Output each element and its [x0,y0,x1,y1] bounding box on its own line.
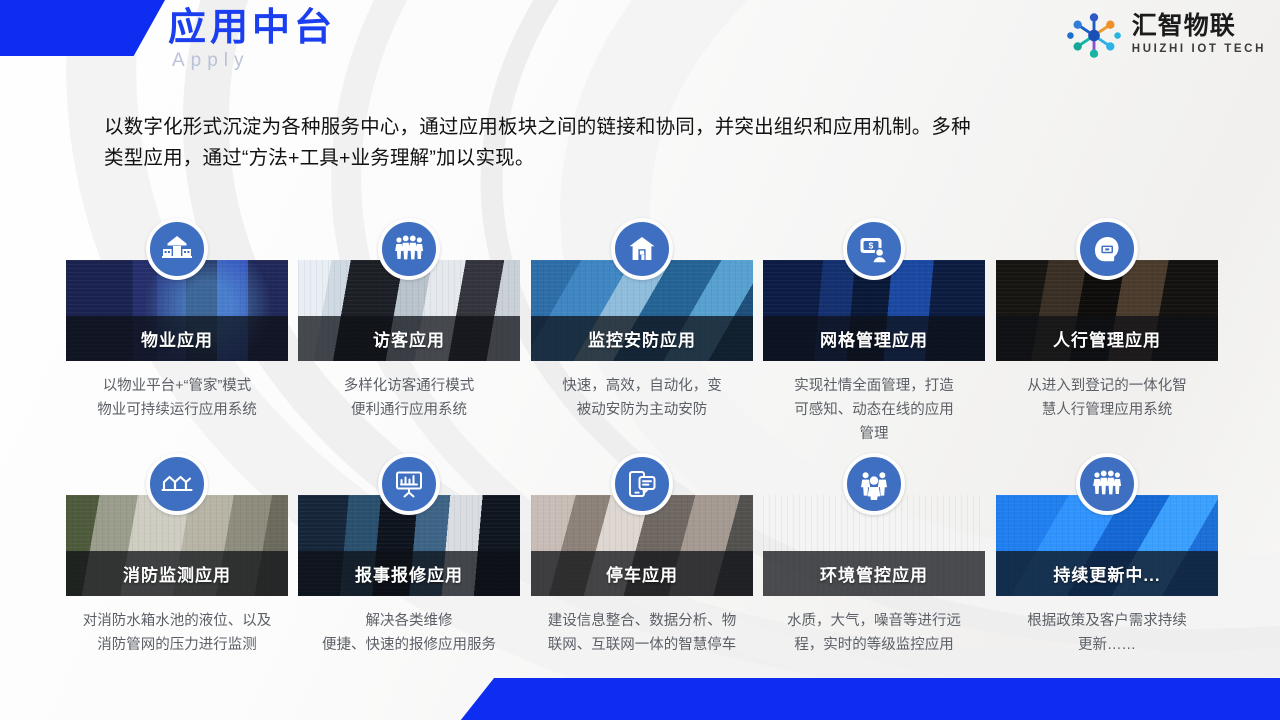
face-recognition-icon[interactable] [1076,218,1138,280]
intro-paragraph: 以数字化形式沉淀为各种服务中心，通过应用板块之间的链接和协同，并突出组织和应用机… [104,112,1174,174]
card-description: 建设信息整合、数据分析、物联网、互联网一体的智慧停车 [531,609,753,657]
logo-name-en: HUIZHI IOT TECH [1132,42,1266,57]
card-description-line: 可感知、动态在线的应用 [765,398,983,422]
people-group-icon[interactable] [378,218,440,280]
buildings-outline-icon[interactable] [146,453,208,515]
application-card[interactable]: 报事报修应用解决各类维修便捷、快速的报修应用服务 [298,453,520,657]
brand-logo: 汇智物联 HUIZHI IOT TECH [1065,12,1266,58]
card-title: 访客应用 [373,326,445,351]
card-description-line: 便利通行应用系统 [300,398,518,422]
family-group-icon[interactable] [843,453,905,515]
card-description: 快速，高效，自动化，变被动安防为主动安防 [531,374,753,422]
card-description-line: 对消防水箱水池的液位、以及 [68,609,286,633]
card-description-line: 多样化访客通行模式 [300,374,518,398]
card-title-bar: 消防监测应用 [66,551,288,596]
card-title: 报事报修应用 [355,561,463,586]
application-card[interactable]: $网格管理应用实现社情全面管理，打造可感知、动态在线的应用管理 [763,218,985,446]
card-description: 多样化访客通行模式便利通行应用系统 [298,374,520,422]
page-subtitle: Apply [172,50,250,72]
logo-name-cn: 汇智物联 [1132,13,1266,40]
card-title-bar: 物业应用 [66,316,288,361]
payment-user-icon[interactable]: $ [843,218,905,280]
card-description-line: 实现社情全面管理，打造 [765,374,983,398]
card-title: 人行管理应用 [1053,326,1161,351]
people-group-icon[interactable] [1076,453,1138,515]
card-title-bar: 访客应用 [298,316,520,361]
application-card[interactable]: 环境管控应用水质，大气，噪音等进行远程，实时的等级监控应用 [763,453,985,657]
card-description-line: 消防管网的压力进行监测 [68,633,286,657]
chart-board-icon[interactable] [378,453,440,515]
card-title: 消防监测应用 [123,561,231,586]
card-description: 根据政策及客户需求持续更新…… [996,609,1218,657]
card-description-line: 快速，高效，自动化，变 [533,374,751,398]
logo-wordmark: 汇智物联 HUIZHI IOT TECH [1132,13,1266,57]
application-card[interactable]: 访客应用多样化访客通行模式便利通行应用系统 [298,218,520,422]
card-title-bar: 环境管控应用 [763,551,985,596]
card-description: 实现社情全面管理，打造可感知、动态在线的应用管理 [763,374,985,446]
card-description-line: 联网、互联网一体的智慧停车 [533,633,751,657]
card-title: 监控安防应用 [588,326,696,351]
card-description-line: 解决各类维修 [300,609,518,633]
application-card[interactable]: 物业应用以物业平台+“管家”模式物业可持续运行应用系统 [66,218,288,422]
home-shield-icon[interactable] [611,218,673,280]
application-card[interactable]: 停车应用建设信息整合、数据分析、物联网、互联网一体的智慧停车 [531,453,753,657]
card-description-line: 更新…… [998,633,1216,657]
application-card[interactable]: 消防监测应用对消防水箱水池的液位、以及消防管网的压力进行监测 [66,453,288,657]
card-description-line: 程，实时的等级监控应用 [765,633,983,657]
application-card[interactable]: 人行管理应用从进入到登记的一体化智慧人行管理应用系统 [996,218,1218,422]
card-title: 持续更新中... [1053,561,1160,586]
card-title-bar: 人行管理应用 [996,316,1218,361]
card-description-line: 便捷、快速的报修应用服务 [300,633,518,657]
card-title: 物业应用 [141,326,213,351]
page-header: 应用中台 Apply 汇智物联 HU [0,0,1280,90]
card-title-bar: 报事报修应用 [298,551,520,596]
card-description: 解决各类维修便捷、快速的报修应用服务 [298,609,520,657]
card-description-line: 根据政策及客户需求持续 [998,609,1216,633]
card-description-line: 慧人行管理应用系统 [998,398,1216,422]
page-title: 应用中台 [168,5,336,51]
card-title-bar: 监控安防应用 [531,316,753,361]
card-title: 网格管理应用 [820,326,928,351]
card-title-bar: 网格管理应用 [763,316,985,361]
svg-text:$: $ [869,240,874,250]
header-accent-shape [0,0,165,56]
card-description-line: 管理 [765,422,983,446]
card-row-1: 物业应用以物业平台+“管家”模式物业可持续运行应用系统访客应用多样化访客通行模式… [0,218,1280,453]
card-description-line: 建设信息整合、数据分析、物 [533,609,751,633]
card-description-line: 物业可持续运行应用系统 [68,398,286,422]
card-description-line: 被动安防为主动安防 [533,398,751,422]
application-card-grid: 物业应用以物业平台+“管家”模式物业可持续运行应用系统访客应用多样化访客通行模式… [0,218,1280,688]
card-title-bar: 持续更新中... [996,551,1218,596]
card-description-line: 水质，大气，噪音等进行远 [765,609,983,633]
logo-molecule-icon [1065,12,1123,58]
card-row-2: 消防监测应用对消防水箱水池的液位、以及消防管网的压力进行监测报事报修应用解决各类… [0,453,1280,688]
card-description: 对消防水箱水池的液位、以及消防管网的压力进行监测 [66,609,288,657]
intro-line-1: 以数字化形式沉淀为各种服务中心，通过应用板块之间的链接和协同，并突出组织和应用机… [104,112,1174,143]
house-fence-icon[interactable] [146,218,208,280]
application-card[interactable]: 监控安防应用快速，高效，自动化，变被动安防为主动安防 [531,218,753,422]
application-card[interactable]: 持续更新中...根据政策及客户需求持续更新…… [996,453,1218,657]
card-description: 以物业平台+“管家”模式物业可持续运行应用系统 [66,374,288,422]
card-description-line: 从进入到登记的一体化智 [998,374,1216,398]
card-description-line: 以物业平台+“管家”模式 [68,374,286,398]
card-description: 从进入到登记的一体化智慧人行管理应用系统 [996,374,1218,422]
card-title: 环境管控应用 [820,561,928,586]
card-description: 水质，大气，噪音等进行远程，实时的等级监控应用 [763,609,985,657]
intro-line-2: 类型应用，通过“方法+工具+业务理解”加以实现。 [104,143,1174,174]
card-title-bar: 停车应用 [531,551,753,596]
card-title: 停车应用 [606,561,678,586]
mobile-message-icon[interactable] [611,453,673,515]
